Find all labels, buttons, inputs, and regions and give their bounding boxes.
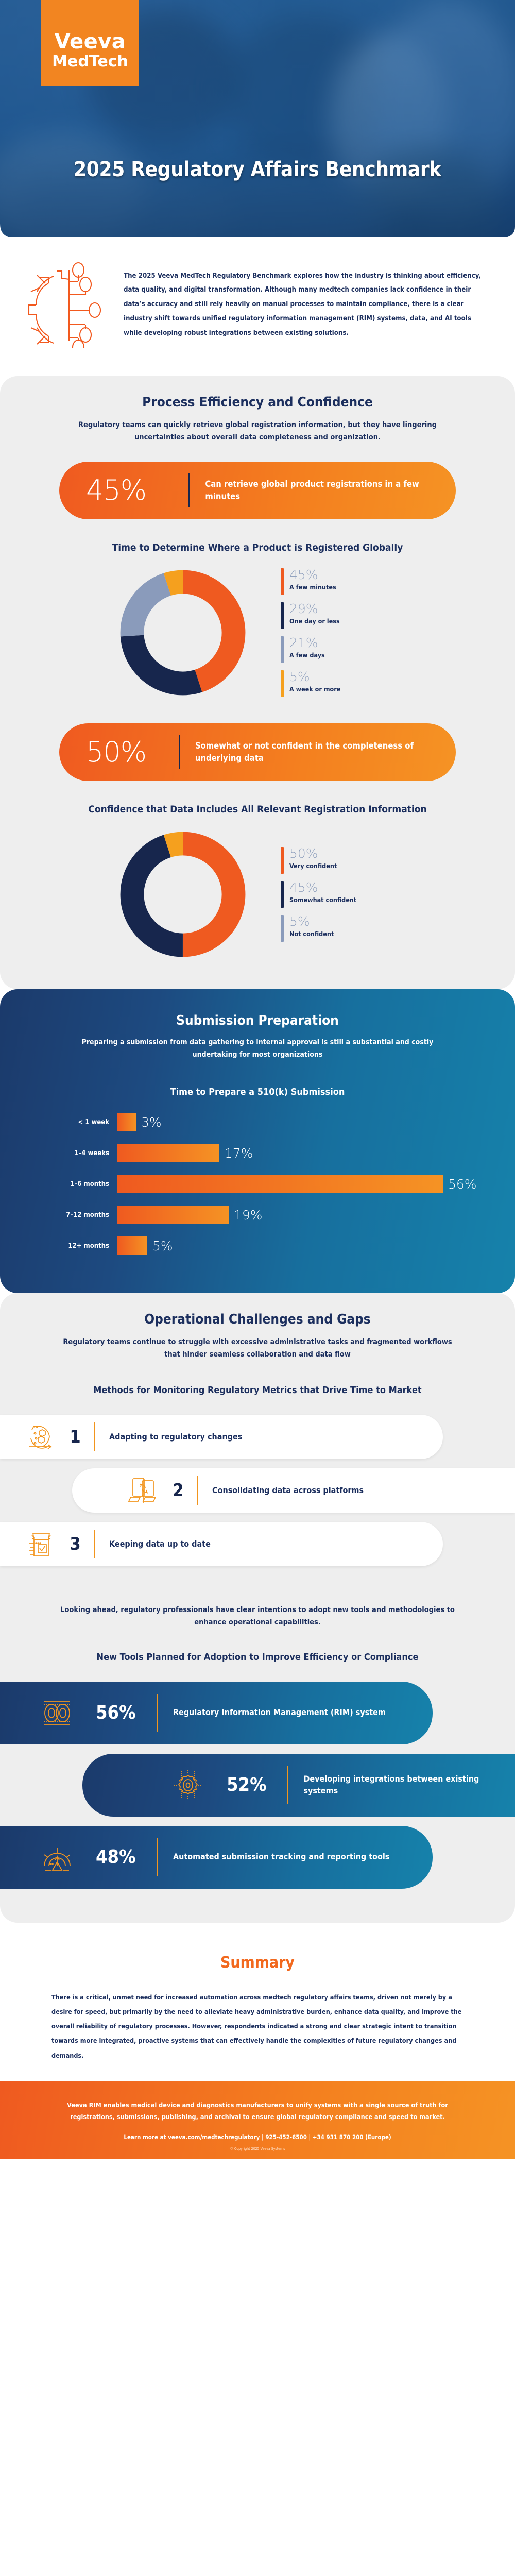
methods-card-list: 1 Adapting to regulatory changes xyxy=(0,1412,515,1581)
legend-label: Somewhat confident xyxy=(289,896,356,904)
bar-category: 1–4 weeks xyxy=(0,1149,117,1157)
legend-item: 45% A few minutes xyxy=(281,568,399,595)
legend-value: 45% xyxy=(289,881,356,894)
infographic-page: Veeva MedTech 2025 Regulatory Affairs Be… xyxy=(0,0,515,2159)
legend-swatch xyxy=(281,881,284,908)
bar-value: 5% xyxy=(152,1239,173,1253)
chart-title-510k: Time to Prepare a 510(k) Submission xyxy=(0,1087,515,1097)
hero-banner: Veeva MedTech 2025 Regulatory Affairs Be… xyxy=(0,0,515,237)
bar-category: 12+ months xyxy=(0,1242,117,1250)
legend-value: 45% xyxy=(289,568,336,582)
legend-value: 5% xyxy=(289,670,340,684)
logo-medtech-text: MedTech xyxy=(52,52,128,72)
bar-value: 3% xyxy=(141,1115,162,1130)
bar-row: < 1 week 3% xyxy=(0,1110,515,1134)
bar-category: < 1 week xyxy=(0,1118,117,1126)
legend-value: 50% xyxy=(289,847,337,860)
bar-row: 12+ months 5% xyxy=(0,1233,515,1258)
legend-swatch xyxy=(281,568,284,595)
hero-bottom-curve-icon xyxy=(0,216,515,237)
stat-pill-divider xyxy=(179,735,180,769)
bar-value: 56% xyxy=(448,1177,477,1192)
bar-fill xyxy=(117,1175,443,1193)
device-sync-icon xyxy=(128,1475,160,1506)
stat-pill-50: 50% Somewhat or not confident in the com… xyxy=(59,723,456,781)
tool-bar-automation[interactable]: 48% Automated submission tracking and re… xyxy=(0,1826,433,1889)
section-subtitle-process: Regulatory teams can quickly retrieve gl… xyxy=(0,419,515,444)
footer-contact-line[interactable]: Learn more at veeva.com/medtechregulator… xyxy=(44,2133,471,2141)
legend-item: 50% Very confident xyxy=(281,847,399,874)
logo-veeva-text: Veeva xyxy=(55,31,126,52)
bar-value: 19% xyxy=(234,1208,263,1223)
method-rank: 1 xyxy=(57,1427,94,1447)
footer-cta: Veeva RIM enables medical device and dia… xyxy=(0,2081,515,2159)
tool-value: 48% xyxy=(96,1846,157,1868)
tool-divider xyxy=(157,1694,158,1732)
legend-value: 21% xyxy=(289,636,325,650)
operational-challenges-section: Operational Challenges and Gaps Regulato… xyxy=(0,1293,515,1922)
legend-value: 5% xyxy=(289,915,334,928)
tool-value: 52% xyxy=(227,1774,287,1795)
legend-swatch xyxy=(281,670,284,697)
stat-pill-50-label: Somewhat or not confident in the complet… xyxy=(195,740,456,764)
legend-item: 5% A week or more xyxy=(281,670,399,697)
footer-copyright: © Copyright 2025 Veeva Systems xyxy=(44,2147,471,2151)
legend-item: 5% Not confident xyxy=(281,915,399,942)
method-label: Adapting to regulatory changes xyxy=(109,1432,242,1442)
method-card-2[interactable]: 2 Consolidating data across platforms xyxy=(72,1468,515,1513)
legend-swatch xyxy=(281,602,284,629)
legend-swatch xyxy=(281,915,284,942)
stat-pill-45-label: Can retrieve global product registration… xyxy=(205,478,456,502)
summary-paragraph: There is a critical, unmet need for incr… xyxy=(0,1990,515,2063)
stat-pill-45: 45% Can retrieve global product registra… xyxy=(59,462,456,519)
legend-label: A few minutes xyxy=(289,583,336,591)
section-title-process: Process Efficiency and Confidence xyxy=(0,395,515,410)
legend-swatch xyxy=(281,636,284,663)
legend-label: A week or more xyxy=(289,685,340,693)
process-efficiency-section: Process Efficiency and Confidence Regula… xyxy=(0,376,515,989)
legend-label: Very confident xyxy=(289,862,337,870)
legend-registration-time: 45% A few minutes 29% One day or less 21… xyxy=(281,568,399,697)
bar-row: 1–4 weeks 17% xyxy=(0,1141,515,1165)
submission-preparation-section: Submission Preparation Preparing a submi… xyxy=(0,989,515,1294)
dashboard-gauge-icon xyxy=(40,1840,74,1874)
stat-pill-50-value: 50% xyxy=(86,736,179,768)
bar-row: 1–6 months 56% xyxy=(0,1172,515,1196)
section-subtitle-submission: Preparing a submission from data gatheri… xyxy=(0,1037,515,1061)
summary-section: Summary There is a critical, unmet need … xyxy=(0,1923,515,2082)
tool-label: Developing integrations between existing… xyxy=(303,1773,515,1797)
gear-integration-icon xyxy=(171,1768,205,1802)
checklist-clipboard-icon xyxy=(25,1528,57,1560)
section-subtitle-operational: Regulatory teams continue to struggle wi… xyxy=(0,1336,515,1361)
donut-chart-1: 45% A few minutes 29% One day or less 21… xyxy=(0,558,515,703)
intro-paragraph: The 2025 Veeva MedTech Regulatory Benchm… xyxy=(124,269,484,341)
tool-bar-integrations[interactable]: 52% Developing integrations between exis… xyxy=(82,1754,515,1817)
legend-label: Not confident xyxy=(289,930,334,938)
footer-description: Veeva RIM enables medical device and dia… xyxy=(44,2099,471,2123)
cycle-molecule-icon xyxy=(25,1421,57,1453)
chart-title-registration-time: Time to Determine Where a Product is Reg… xyxy=(0,542,515,553)
bar-fill xyxy=(117,1113,136,1131)
legend-label: One day or less xyxy=(289,617,340,625)
bar-fill xyxy=(117,1236,147,1255)
legend-item: 21% A few days xyxy=(281,636,399,663)
stat-pill-45-value: 45% xyxy=(86,474,188,506)
card-divider xyxy=(94,1530,95,1558)
donut-registration-time-icon xyxy=(116,566,250,700)
method-card-3[interactable]: 3 Keeping data up to date xyxy=(0,1522,443,1566)
section-title-operational: Operational Challenges and Gaps xyxy=(0,1312,515,1327)
card-divider xyxy=(94,1422,95,1451)
section-title-submission: Submission Preparation xyxy=(0,1013,515,1028)
method-rank: 2 xyxy=(160,1480,197,1501)
bar-chart-510k: < 1 week 3% 1–4 weeks 17% 1–6 months 56%… xyxy=(0,1110,515,1258)
chart-title-confidence: Confidence that Data Includes All Releva… xyxy=(0,804,515,815)
methods-title: Methods for Monitoring Regulatory Metric… xyxy=(0,1383,515,1398)
intro-section: The 2025 Veeva MedTech Regulatory Benchm… xyxy=(0,237,515,376)
tools-title: New Tools Planned for Adoption to Improv… xyxy=(0,1650,515,1665)
donut-confidence-icon xyxy=(116,827,250,961)
method-label: Keeping data up to date xyxy=(109,1539,211,1549)
legend-confidence: 50% Very confident 45% Somewhat confiden… xyxy=(281,847,399,942)
bar-value: 17% xyxy=(225,1146,253,1161)
method-label: Consolidating data across platforms xyxy=(212,1485,364,1495)
tool-bar-rim[interactable]: 56% Regulatory Information Management (R… xyxy=(0,1682,433,1744)
donut-chart-2: 50% Very confident 45% Somewhat confiden… xyxy=(0,820,515,964)
method-card-1[interactable]: 1 Adapting to regulatory changes xyxy=(0,1415,443,1459)
summary-title: Summary xyxy=(0,1954,515,1972)
bar-fill xyxy=(117,1206,229,1224)
method-rank: 3 xyxy=(57,1534,94,1554)
tool-label: Regulatory Information Management (RIM) … xyxy=(173,1707,386,1719)
legend-item: 45% Somewhat confident xyxy=(281,881,399,908)
legend-value: 29% xyxy=(289,602,340,616)
tool-value: 56% xyxy=(96,1702,157,1723)
veeva-medtech-logo: Veeva MedTech xyxy=(41,0,139,86)
gear-network-icon xyxy=(25,261,112,348)
bar-category: 7–12 months xyxy=(0,1211,117,1219)
bar-row: 7–12 months 19% xyxy=(0,1202,515,1227)
legend-item: 29% One day or less xyxy=(281,602,399,629)
tools-bar-list: 56% Regulatory Information Management (R… xyxy=(0,1682,515,1889)
bar-fill xyxy=(117,1144,219,1162)
page-title: 2025 Regulatory Affairs Benchmark xyxy=(0,158,515,181)
bar-category: 1–6 months xyxy=(0,1180,117,1188)
tool-label: Automated submission tracking and report… xyxy=(173,1851,389,1863)
legend-label: A few days xyxy=(289,651,325,659)
lookahead-text: Looking ahead, regulatory professionals … xyxy=(0,1604,515,1629)
card-divider xyxy=(197,1476,198,1505)
stat-pill-divider xyxy=(188,473,190,507)
tool-divider xyxy=(157,1838,158,1876)
legend-swatch xyxy=(281,847,284,874)
tool-divider xyxy=(287,1766,288,1804)
infinity-data-icon xyxy=(40,1696,74,1730)
